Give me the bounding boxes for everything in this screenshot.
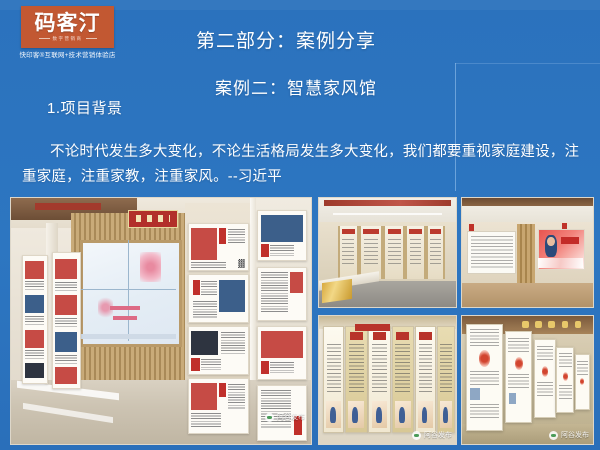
watermark-board-wall-photo: 阿谷发布 [549,430,589,440]
presentation-slide: 码客汀 数字营销商 快印客®互联网+技术营销体验店 第二部分：案例分享 案例二：… [0,0,600,450]
photo-display-board-wall: 阿谷发布 [461,315,594,445]
section-title: 1.项目背景 [47,99,123,119]
heading-secondary: 案例二：智慧家风馆 [215,78,377,100]
hall-sign-family-values [128,210,178,228]
photo-exhibition-hall-wood-wall [461,197,594,308]
logo-tagline: 快印客®互联网+技术营销体验店 [15,51,120,60]
brand-logo: 码客汀 数字营销商 快印客®互联网+技术营销体验店 [21,6,114,60]
watermark-label: 阿谷发布 [424,430,452,440]
photo-exhibition-hall-main: 阿谷发布 [10,197,312,445]
heading-primary: 第二部分：案例分享 [196,30,376,54]
watermark-label: 阿谷发布 [277,412,305,422]
body-paragraph: 不论时代发生多大变化，不论生活格局发生多大变化，我们都要重视家庭建设，注重家庭，… [22,140,582,190]
scroll-section-sign [355,324,391,332]
watermark-label: 阿谷发布 [561,430,589,440]
wechat-icon [265,413,274,422]
content-frame-top-edge [455,63,600,64]
logo-brand-subtext: 数字营销商 [39,36,97,42]
watermark-main-photo: 阿谷发布 [265,412,305,422]
wechat-icon [412,431,421,440]
watermark-scrolls-photo: 阿谷发布 [412,430,452,440]
wechat-icon [549,431,558,440]
logo-brand-text: 码客汀 [35,13,101,34]
logo-badge: 码客汀 数字营销商 [21,6,114,48]
photo-exhibition-hall-wide [318,197,457,308]
photo-family-precept-scrolls: 阿谷发布 [318,315,457,445]
